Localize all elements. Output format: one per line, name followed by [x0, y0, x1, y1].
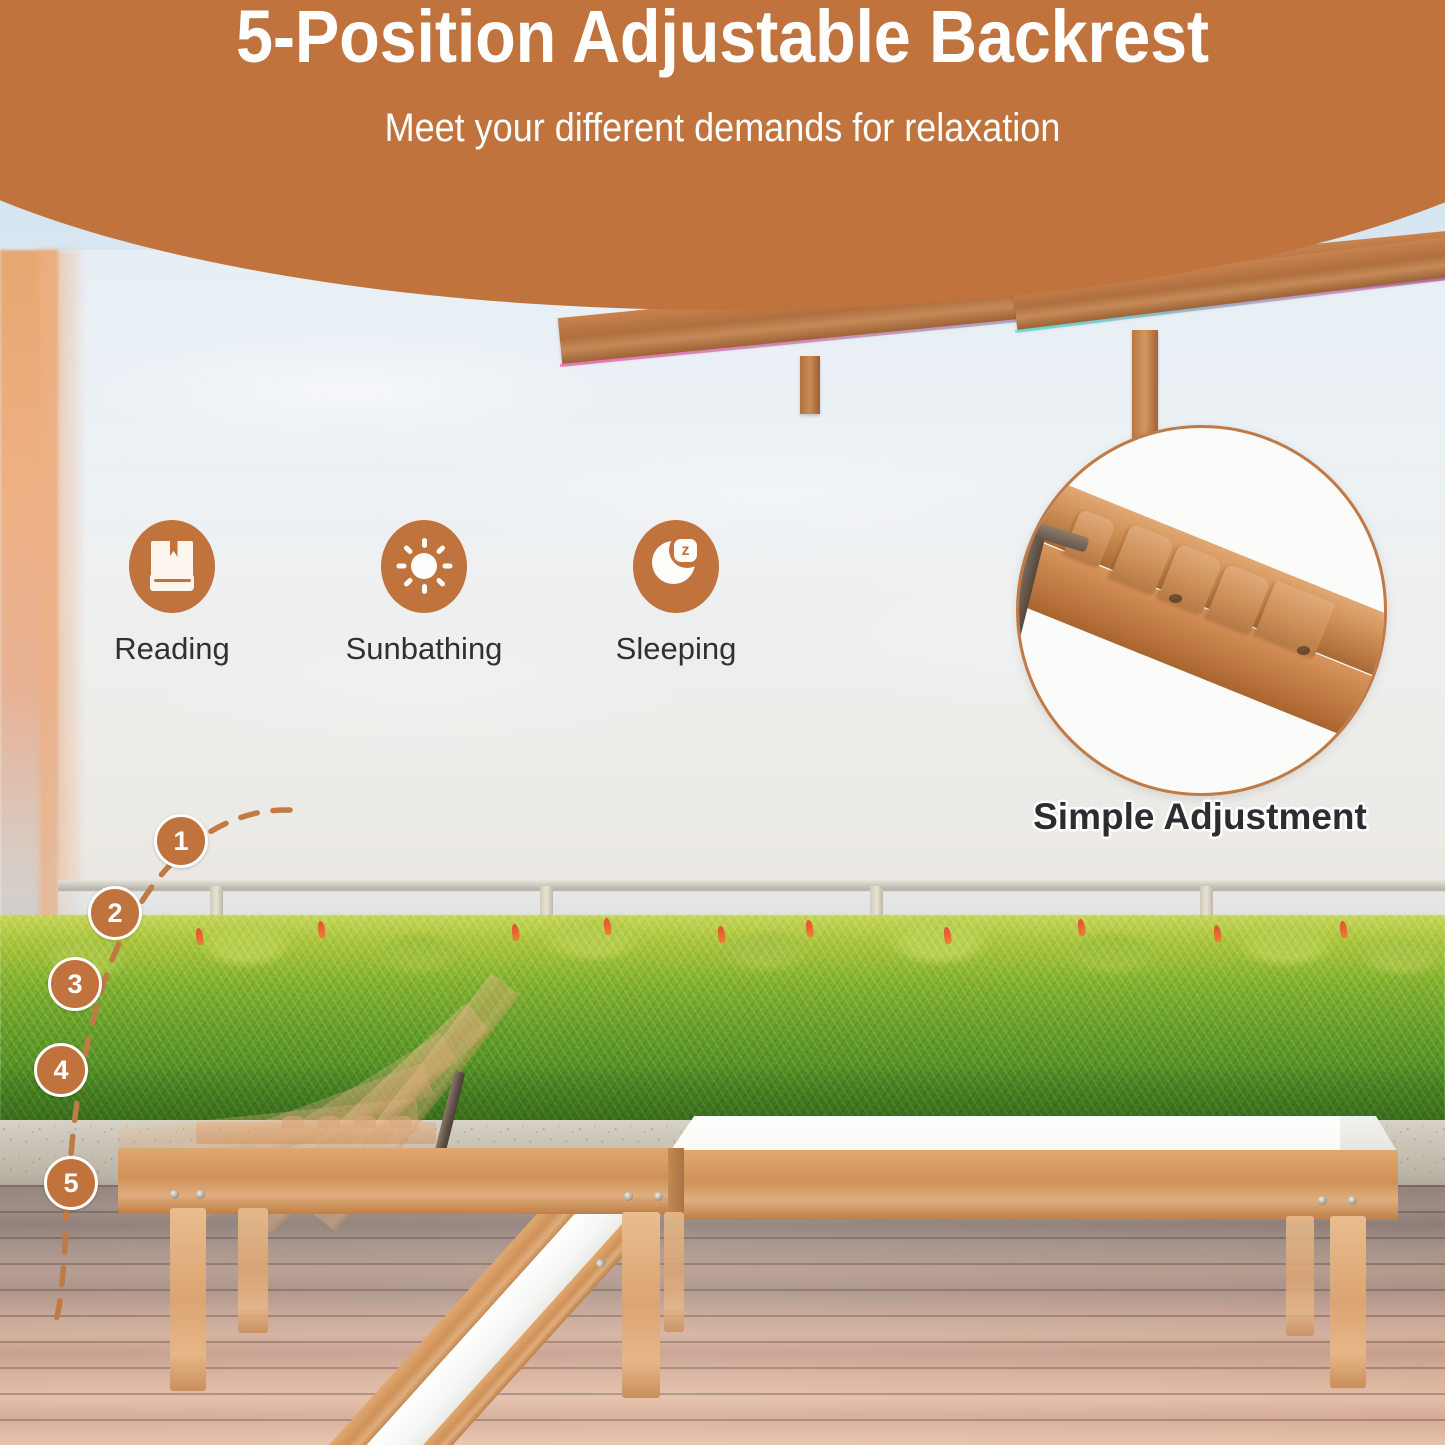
header-banner-text: 5-Position Adjustable Backrest Meet your…: [0, 0, 1445, 148]
sun-icon: [381, 520, 467, 613]
position-marker-5[interactable]: 5: [44, 1156, 98, 1210]
feature-reading[interactable]: Reading: [72, 520, 272, 667]
frame-screw: [624, 1192, 633, 1201]
moon-sleep-icon: z: [633, 520, 719, 613]
callout-caption: Simple Adjustment: [1000, 796, 1400, 838]
frame-side-rail-right: [676, 1150, 1398, 1220]
leg-center: [622, 1212, 660, 1398]
callout-screw-hole: [1297, 646, 1310, 655]
feature-icon-row: Reading Sunbathing: [92, 520, 792, 700]
page-subtitle: Meet your different demands for relaxati…: [72, 108, 1373, 148]
frame-screw: [1348, 1196, 1357, 1205]
position-marker-3[interactable]: 3: [48, 957, 102, 1011]
product-feature-image: 5-Position Adjustable Backrest Meet your…: [0, 0, 1445, 1445]
position-marker-1[interactable]: 1: [154, 814, 208, 868]
feature-label-sleeping: Sleeping: [576, 631, 776, 667]
pergola-post: [1132, 330, 1158, 438]
page-title: 5-Position Adjustable Backrest: [72, 0, 1373, 74]
feature-label-reading: Reading: [72, 631, 272, 667]
leg-center-back: [664, 1212, 684, 1332]
position-marker-4[interactable]: 4: [34, 1043, 88, 1097]
leg-front-right: [1330, 1216, 1366, 1388]
frame-screw: [654, 1192, 663, 1201]
callout-screw-hole: [1169, 594, 1182, 603]
frame-hinge-plate: [668, 1148, 684, 1220]
feature-sleeping[interactable]: z Sleeping: [576, 520, 776, 667]
feature-label-sunbathing: Sunbathing: [324, 631, 524, 667]
leg-back-right: [1286, 1216, 1314, 1336]
detail-callout-circle: [1016, 425, 1387, 796]
position-marker-2[interactable]: 2: [88, 886, 142, 940]
feature-sunbathing[interactable]: Sunbathing: [324, 520, 524, 667]
frame-screw: [1318, 1196, 1327, 1205]
pergola-post: [800, 356, 820, 414]
book-icon: [129, 520, 215, 613]
